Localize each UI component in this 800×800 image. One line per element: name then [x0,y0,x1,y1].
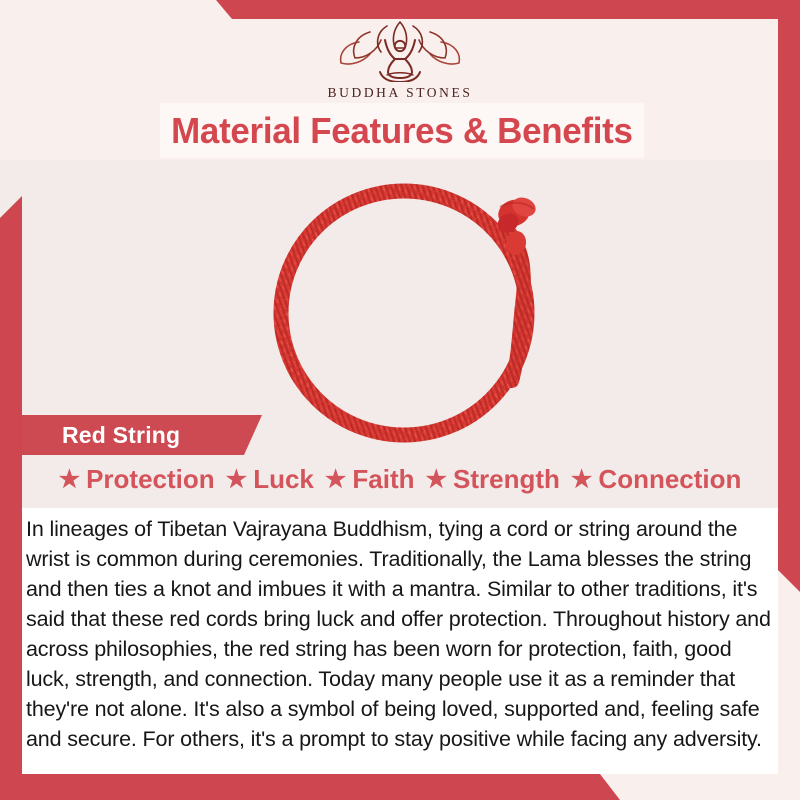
benefit-label: Faith [352,464,414,495]
benefit-connection: ★ Connection [571,464,742,495]
benefits-row: ★ Protection ★ Luck ★ Faith ★ Strength ★… [0,464,800,495]
benefit-label: Connection [598,464,741,495]
red-braided-string-bracelet-icon [262,165,562,465]
star-icon: ★ [59,468,81,492]
page-title: Material Features & Benefits [171,110,632,152]
benefit-label: Protection [86,464,215,495]
benefit-label: Luck [253,464,314,495]
benefit-faith: ★ Faith [325,464,415,495]
star-icon: ★ [571,468,593,492]
benefit-strength: ★ Strength [426,464,560,495]
benefit-protection: ★ Protection [59,464,215,495]
top-red-band [0,0,800,19]
product-name-label: Red String [62,422,180,449]
infographic-page: BUDDHA STONES Material Features & Benefi… [0,0,800,800]
bottom-red-band [0,774,640,800]
star-icon: ★ [226,468,248,492]
description-text: In lineages of Tibetan Vajrayana Buddhis… [26,514,776,754]
product-image-area [0,160,800,410]
brand-logo: BUDDHA STONES [0,18,800,101]
lotus-meditation-icon [325,18,475,82]
star-icon: ★ [325,468,347,492]
page-title-box: Material Features & Benefits [160,103,644,158]
benefit-luck: ★ Luck [226,464,314,495]
product-name-banner: Red String [22,415,262,455]
description-panel: In lineages of Tibetan Vajrayana Buddhis… [22,508,778,774]
star-icon: ★ [426,468,448,492]
benefit-label: Strength [453,464,560,495]
brand-name: BUDDHA STONES [0,85,800,101]
